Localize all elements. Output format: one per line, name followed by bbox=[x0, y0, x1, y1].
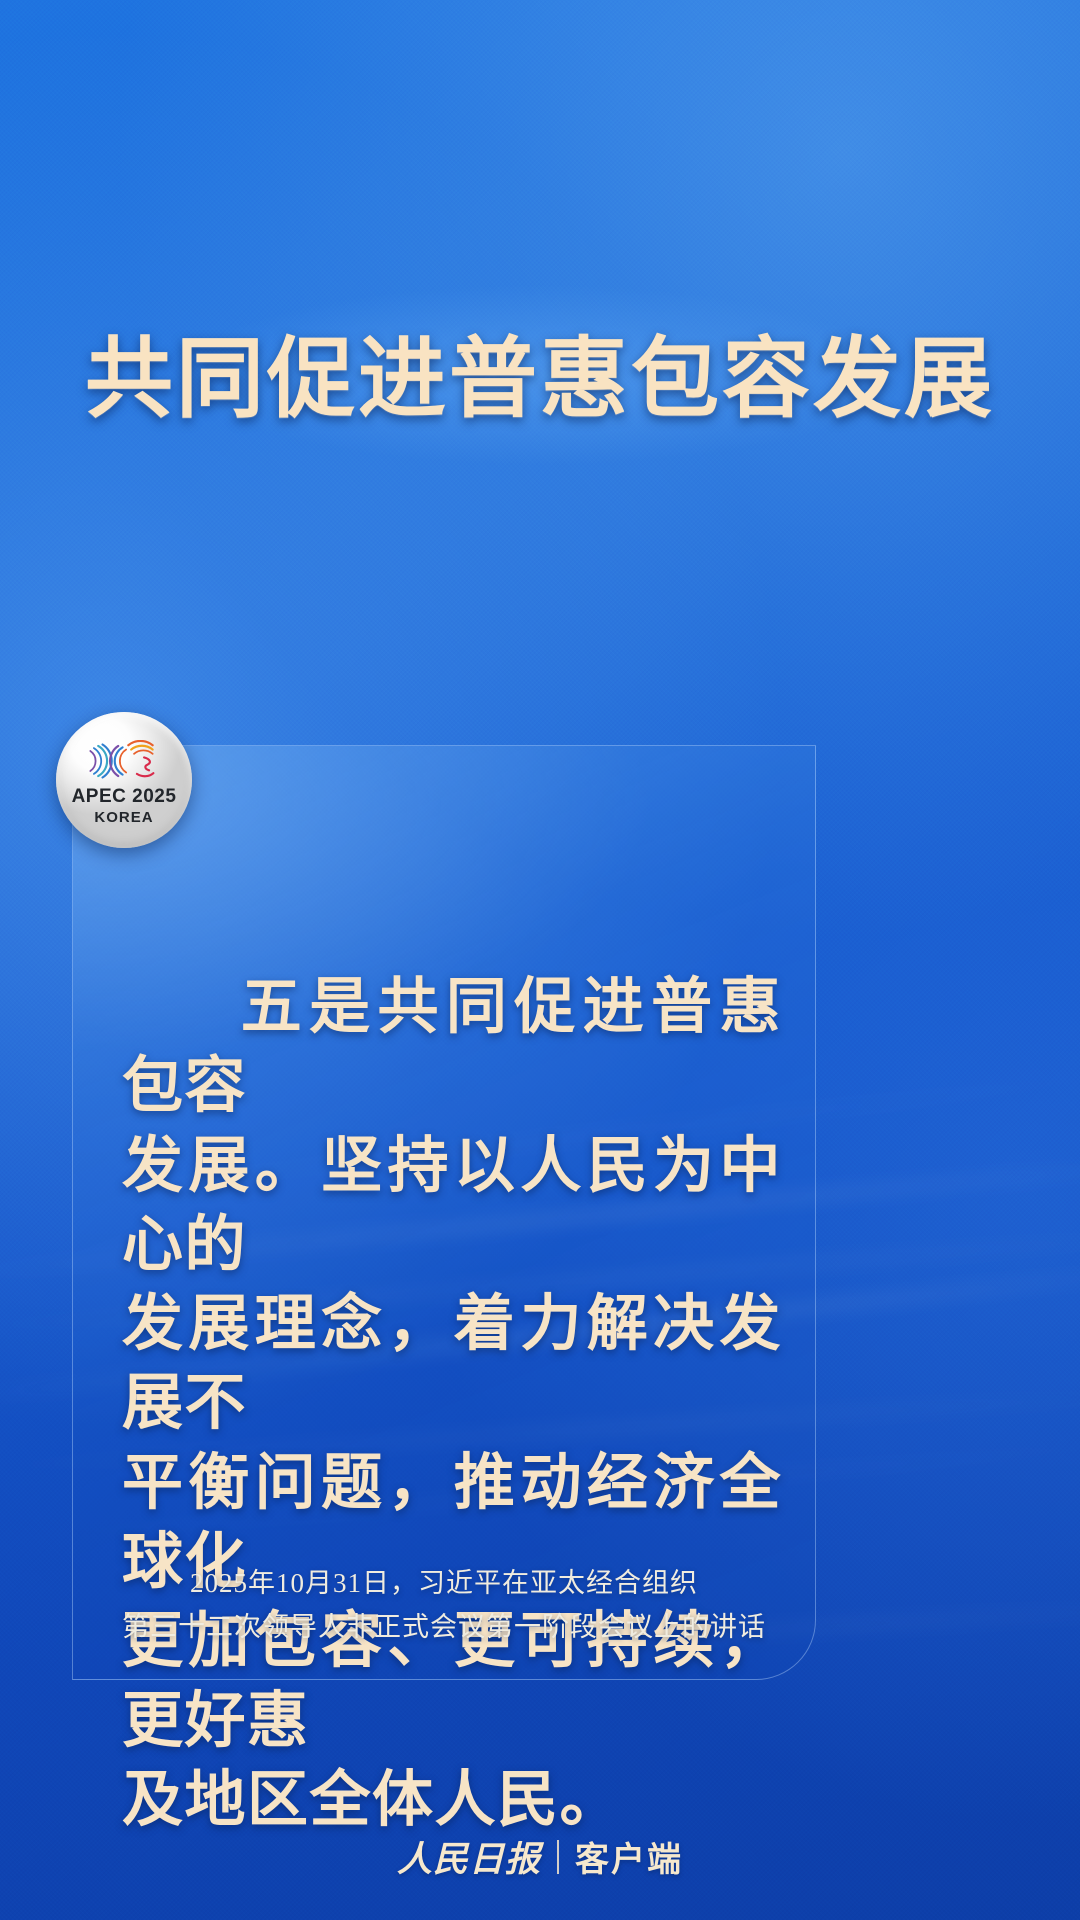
footer-divider bbox=[557, 1840, 559, 1874]
quote-line: 及地区全体人民。 bbox=[122, 1761, 782, 1840]
quote-attribution: 2025年10月31日，习近平在亚太经合组织 第三十二次领导人非正式会议第一阶段… bbox=[72, 1562, 816, 1649]
page-title: 共同促进普惠包容发展 bbox=[0, 331, 1080, 426]
app-name-label: 客户端 bbox=[575, 1832, 683, 1881]
poster-canvas: 共同促进普惠包容发展 APEC 2025 KOREA 五是共 bbox=[0, 0, 1080, 1920]
attribution-line-1: 2025年10月31日，习近平在亚太经合组织 bbox=[72, 1562, 816, 1606]
quote-text: 五是共同促进普惠包容 发展。坚持以人民为中心的 发展理念，着力解决发展不 平衡问… bbox=[122, 968, 782, 1840]
apec-emblem-icon bbox=[81, 740, 167, 782]
badge-title: APEC 2025 bbox=[72, 787, 177, 806]
quote-line: 发展。坚持以人民为中心的 bbox=[122, 1127, 782, 1286]
quote-line: 五是共同促进普惠包容 bbox=[122, 968, 782, 1127]
quote-line: 发展理念，着力解决发展不 bbox=[122, 1285, 782, 1444]
attribution-line-2: 第三十二次领导人非正式会议第一阶段会议上的讲话 bbox=[72, 1606, 816, 1650]
publisher-logo-text: 人民日报 bbox=[397, 1831, 541, 1882]
apec-2025-korea-badge: APEC 2025 KOREA bbox=[56, 712, 192, 848]
publisher-footer: 人民日报 客户端 bbox=[0, 1831, 1080, 1882]
badge-subtitle: KOREA bbox=[94, 810, 153, 825]
